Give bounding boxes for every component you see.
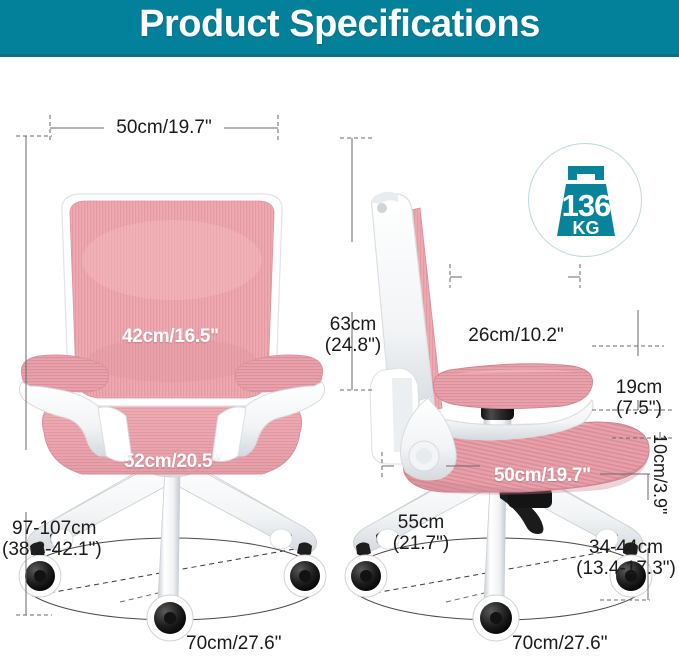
page-title: Product Specifications [0, 3, 679, 46]
dim-side-seat-height-line1: 34-44cm [575, 538, 677, 558]
dim-side-armrest-length: 26cm/10.2" [455, 325, 577, 346]
dim-front-backrest-width: 42cm/16.5" [122, 326, 219, 347]
header-banner: Product Specifications [0, 0, 679, 57]
dim-side-armrest-height-line1: 19cm [608, 378, 670, 398]
dim-side-seat-height-line2: (13.4-17.3") [570, 559, 679, 579]
dim-front-backrest-top-width: 50cm/19.7" [104, 117, 224, 138]
dim-side-seat-overall-depth-line1: 55cm [388, 513, 454, 533]
weight-capacity-badge: 136 KG [528, 143, 642, 257]
dim-front-overall-height-line2: (38.2-42.1") [2, 540, 102, 560]
dim-side-seat-depth: 50cm/19.7" [494, 465, 591, 486]
weight-unit: KG [529, 218, 643, 239]
dim-side-backrest-height-line2: (24.8") [318, 336, 388, 356]
dim-side-seat-overall-depth-line2: (21.7") [384, 534, 458, 554]
dim-front-seat-width: 52cm/20.5" [124, 451, 221, 472]
dim-front-base-diameter: 70cm/27.6" [186, 633, 281, 654]
front-view-chair [16, 115, 326, 641]
specifications-diagram: 136 KG 50cm/19.7" 42cm/16.5" 52cm/20.5" … [0, 60, 679, 656]
dim-side-armrest-height-line2: (7.5") [608, 399, 670, 419]
dim-side-seat-thickness: 10cm/3.9" [650, 434, 670, 514]
dim-side-backrest-height-line1: 63cm [322, 315, 384, 335]
dim-side-base-diameter: 70cm/27.6" [512, 633, 607, 654]
dim-front-overall-height-line1: 97-107cm [12, 519, 97, 539]
